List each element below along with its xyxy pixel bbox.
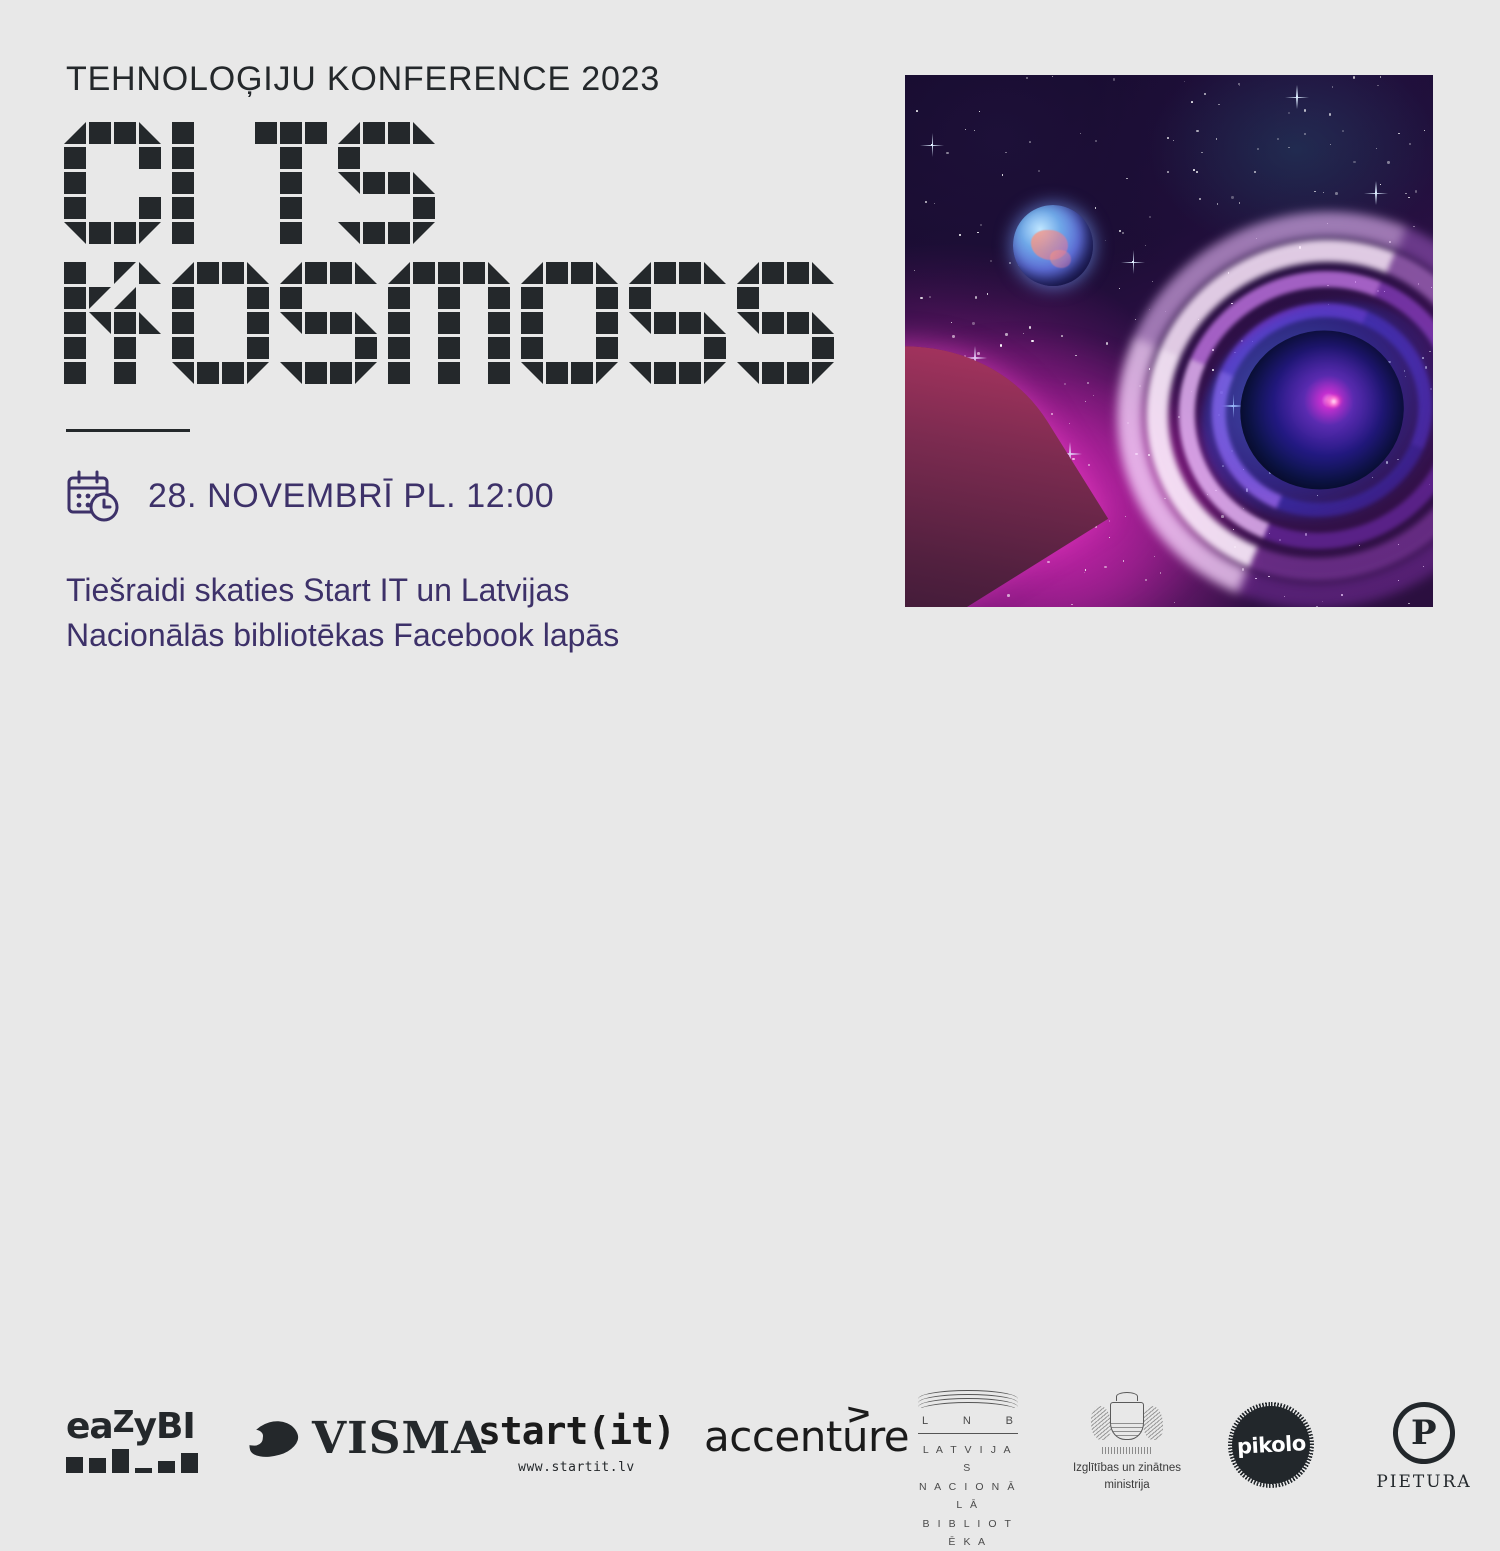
star <box>1072 458 1075 461</box>
bright-star <box>974 357 976 359</box>
star <box>1201 152 1203 154</box>
star <box>1105 240 1107 242</box>
glyph-M <box>388 262 510 384</box>
star <box>1145 579 1147 581</box>
lnb-abbr-n: N <box>963 1415 972 1427</box>
star <box>1109 520 1110 521</box>
star <box>1005 152 1006 153</box>
pikolo-badge: pikolo <box>1232 1406 1310 1484</box>
star <box>1069 423 1070 424</box>
star <box>990 260 992 262</box>
star <box>1167 137 1169 139</box>
star <box>965 129 966 130</box>
star <box>1002 174 1003 175</box>
star <box>1119 230 1121 232</box>
star <box>977 232 979 234</box>
sponsor-logo-pikolo[interactable]: pikolo <box>1232 1406 1310 1484</box>
star <box>1196 130 1198 132</box>
accenture-wordmark: accenture <box>704 1416 909 1458</box>
star <box>1005 333 1007 335</box>
star <box>1330 144 1331 145</box>
star <box>934 203 935 204</box>
visma-wordmark: VISMA <box>312 1417 486 1461</box>
star <box>1304 133 1306 135</box>
bright-star <box>1296 96 1298 98</box>
star <box>1380 76 1381 77</box>
star <box>1398 133 1400 135</box>
star <box>1080 133 1081 134</box>
poster-canvas: TEHNOLOĢIJU KONFERENCE 2023 <box>0 0 1500 860</box>
star <box>1095 207 1097 209</box>
star <box>1088 464 1090 466</box>
star <box>1409 143 1411 145</box>
star <box>1342 130 1344 132</box>
star <box>929 296 931 298</box>
star <box>1314 191 1316 193</box>
bright-star <box>931 144 933 146</box>
event-description-line-2: Nacionālās bibliotēkas Facebook lapās <box>66 613 726 658</box>
star <box>951 322 952 323</box>
pietura-monogram-badge: P <box>1390 1399 1458 1467</box>
glyph-T <box>255 122 327 244</box>
star <box>1125 516 1126 517</box>
eazybi-wordmark: eaZyBI <box>66 1408 198 1445</box>
sponsor-footer: eaZyBI VISMA start(it) www.startit.lv > … <box>0 690 1500 860</box>
star <box>1029 141 1031 143</box>
title-line-1 <box>64 122 856 244</box>
star <box>1047 561 1049 563</box>
star <box>977 352 980 355</box>
glyph-S-2 <box>629 262 726 384</box>
star <box>1332 86 1333 87</box>
event-description-line-1: Tiešraidi skaties Start IT un Latvijas <box>66 568 726 613</box>
star <box>1085 569 1086 570</box>
visma-bean-icon <box>244 1416 301 1462</box>
glyph-K <box>64 262 161 384</box>
star <box>1193 169 1195 171</box>
sponsor-logo-accenture[interactable]: > accenture <box>704 1416 909 1458</box>
star <box>1217 203 1219 205</box>
star <box>1288 112 1290 114</box>
sponsor-logo-ministry[interactable]: Izglītības un zinātnes ministrija <box>1068 1392 1186 1493</box>
lnb-name-line-1: L A T V I J A S <box>918 1441 1018 1478</box>
planet-landmass-2 <box>1050 250 1071 268</box>
glyph-C <box>64 122 161 244</box>
star <box>1376 148 1377 149</box>
star <box>1104 566 1106 568</box>
star <box>1075 355 1077 357</box>
star <box>1231 196 1233 198</box>
glyph-S-3 <box>737 262 834 384</box>
star <box>1149 216 1151 218</box>
bright-star <box>1069 453 1071 455</box>
pikolo-wordmark: pikolo <box>1236 1431 1306 1459</box>
ministry-name-line-1: Izglītības un zinātnes <box>1068 1460 1186 1477</box>
divider-rule <box>66 429 190 432</box>
star <box>1085 401 1086 402</box>
star <box>1387 161 1389 163</box>
star <box>925 201 927 203</box>
star <box>1329 113 1331 115</box>
star <box>1254 171 1256 173</box>
event-kicker: TEHNOLOĢIJU KONFERENCE 2023 <box>66 62 856 96</box>
sponsor-logo-lnb[interactable]: L N B L A T V I J A S N A C I O N Ā L Ā … <box>918 1390 1018 1551</box>
star <box>1071 604 1073 606</box>
glyph-S <box>338 122 435 244</box>
star <box>1239 202 1241 204</box>
star <box>952 335 954 337</box>
calendar-clock-icon <box>66 470 120 522</box>
star <box>1257 148 1259 150</box>
star <box>1023 333 1024 334</box>
star <box>1196 171 1198 173</box>
latvia-coat-of-arms-icon <box>1088 1392 1166 1454</box>
star <box>916 110 918 112</box>
event-description: Tiešraidi skaties Start IT un Latvijas N… <box>66 568 726 659</box>
lnb-abbr-l: L <box>922 1415 929 1427</box>
star <box>920 297 922 299</box>
star <box>1064 383 1066 385</box>
star <box>946 152 948 154</box>
star <box>1052 76 1054 78</box>
content-column: TEHNOLOĢIJU KONFERENCE 2023 <box>66 62 856 659</box>
star <box>1174 602 1175 603</box>
lnb-wave-icon <box>918 1390 1018 1408</box>
star <box>1277 138 1279 140</box>
star <box>1323 192 1324 193</box>
star <box>1204 93 1206 95</box>
star <box>974 130 975 131</box>
star <box>1154 556 1155 557</box>
glyph-O-1 <box>172 262 269 384</box>
cosmic-artwork <box>905 75 1433 607</box>
star <box>959 234 960 235</box>
title-line-2 <box>64 262 856 384</box>
startit-wordmark: start(it) <box>478 1412 675 1450</box>
star <box>1026 77 1028 79</box>
vortex-core-spark <box>1323 393 1345 411</box>
pietura-monogram: P <box>1411 1416 1437 1450</box>
star <box>1353 161 1355 163</box>
star <box>1145 245 1146 246</box>
star <box>979 111 980 112</box>
star <box>1095 140 1097 142</box>
pietura-wordmark: PIETURA <box>1376 1472 1472 1492</box>
glyph-I <box>172 122 244 244</box>
star <box>1167 171 1169 173</box>
lnb-abbr-b: B <box>1006 1415 1014 1427</box>
star <box>1122 232 1124 234</box>
event-datetime-row: 28. NOVEMBRĪ PL. 12:00 <box>66 470 856 522</box>
bright-star <box>1132 261 1134 263</box>
star <box>1051 413 1053 415</box>
sponsor-logo-startit[interactable]: start(it) www.startit.lv <box>478 1412 675 1475</box>
star <box>975 296 978 299</box>
sponsor-logo-eazybi[interactable]: eaZyBI <box>66 1408 198 1473</box>
star <box>914 270 915 271</box>
event-title-wordmark <box>64 122 856 384</box>
lnb-name-line-2: N A C I O N Ā L Ā <box>918 1478 1018 1515</box>
star <box>1031 340 1033 342</box>
glyph-O-2 <box>521 262 618 384</box>
star <box>1160 572 1162 574</box>
glyph-S-1 <box>280 262 377 384</box>
cosmic-scene <box>905 75 1433 607</box>
star <box>1038 170 1040 172</box>
star <box>1009 262 1011 264</box>
star <box>972 322 974 324</box>
star <box>1377 85 1379 87</box>
star <box>1353 76 1356 79</box>
star <box>1424 130 1425 131</box>
lnb-full-name: L A T V I J A S N A C I O N Ā L Ā B I B … <box>918 1434 1018 1551</box>
sponsor-logo-visma[interactable]: VISMA <box>248 1417 486 1461</box>
ministry-name-line-2: ministrija <box>1068 1477 1186 1494</box>
star <box>1084 572 1085 573</box>
star <box>1199 198 1201 200</box>
star <box>987 293 988 294</box>
startit-url: www.startit.lv <box>478 1460 675 1475</box>
star <box>1216 138 1217 139</box>
star <box>1408 603 1410 605</box>
sponsor-logo-pietura[interactable]: P PIETURA <box>1376 1402 1472 1492</box>
ministry-name: Izglītības un zinātnes ministrija <box>1068 1460 1186 1493</box>
star <box>1113 78 1115 80</box>
star <box>1126 178 1128 180</box>
event-datetime-text: 28. NOVEMBRĪ PL. 12:00 <box>148 477 554 516</box>
accenture-arrow-icon: > <box>845 1397 871 1432</box>
star <box>1000 344 1002 346</box>
eazybi-bar-glyphs <box>66 1449 198 1473</box>
star <box>1173 140 1174 141</box>
star <box>1184 81 1185 82</box>
star <box>1218 104 1219 105</box>
star <box>1304 109 1306 111</box>
star <box>1007 594 1010 597</box>
lnb-name-line-3: B I B L I O T Ē K A <box>918 1515 1018 1551</box>
star <box>1123 560 1125 562</box>
star <box>1109 537 1110 538</box>
star <box>1288 147 1289 148</box>
star <box>1191 101 1193 103</box>
star <box>1061 335 1063 337</box>
star <box>1029 326 1031 328</box>
star <box>980 224 981 225</box>
lnb-abbreviation: L N B <box>918 1408 1018 1434</box>
